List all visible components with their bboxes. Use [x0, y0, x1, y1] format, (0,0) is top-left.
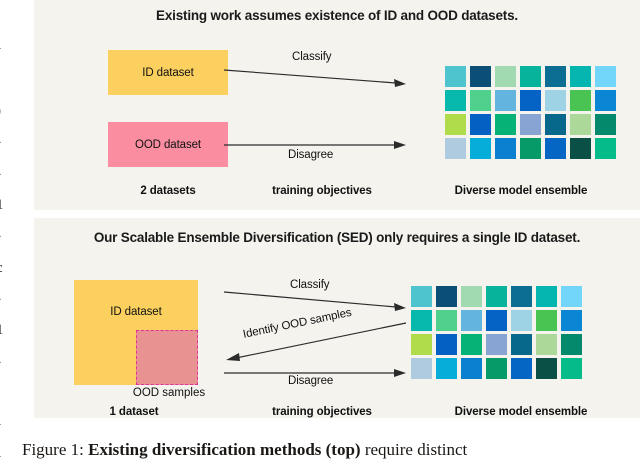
ensemble-cell-r3-c3 — [495, 114, 516, 135]
ensemble-cell-r1-c3 — [495, 66, 516, 87]
ensemble-cell-r2-c4 — [486, 310, 507, 331]
footer-ensemble-bottom: Diverse model ensemble — [414, 406, 628, 418]
ensemble-cell-r3-c4 — [520, 114, 541, 135]
ensemble-cell-r2-c5 — [545, 90, 566, 111]
footer-datasets-bottom: 1 dataset — [66, 406, 202, 418]
ensemble-cell-r3-c7 — [595, 114, 616, 135]
ensemble-cell-r4-c6 — [536, 358, 557, 379]
ensemble-cell-r4-c7 — [595, 138, 616, 159]
margin-fragment: ) — [0, 104, 1, 119]
margin-fragment: 1 — [0, 198, 4, 213]
margin-fragment: - — [0, 449, 1, 464]
panel-existing-work: Existing work assumes existence of ID an… — [34, 0, 640, 210]
ensemble-cell-r3-c6 — [536, 334, 557, 355]
ensemble-cell-r4-c3 — [461, 358, 482, 379]
panel-top-title: Existing work assumes existence of ID an… — [34, 8, 640, 23]
ensemble-cell-r4-c5 — [511, 358, 532, 379]
ensemble-cell-r4-c3 — [495, 138, 516, 159]
ensemble-cell-r1-c6 — [536, 286, 557, 307]
ensemble-cell-r1-c5 — [511, 286, 532, 307]
ensemble-cell-r3-c3 — [461, 334, 482, 355]
classify-arrow-label-top: Classify — [292, 51, 331, 63]
ensemble-cell-r3-c4 — [486, 334, 507, 355]
ensemble-cell-r1-c1 — [445, 66, 466, 87]
panel-bottom-title: Our Scalable Ensemble Diversification (S… — [34, 230, 640, 245]
footer-ensemble-top: Diverse model ensemble — [414, 185, 628, 197]
classify-arrow-label-bottom: Classify — [290, 279, 329, 291]
ensemble-cell-r1-c2 — [470, 66, 491, 87]
id-dataset-label-top: ID dataset — [142, 67, 193, 79]
ood-dataset-label-top: OOD dataset — [135, 139, 201, 151]
ensemble-cell-r2-c5 — [511, 310, 532, 331]
ensemble-cell-r1-c5 — [545, 66, 566, 87]
footer-objectives-top: training objectives — [242, 185, 402, 197]
ensemble-cell-r2-c7 — [561, 310, 582, 331]
ensemble-cell-r4-c1 — [411, 358, 432, 379]
ensemble-cell-r3-c2 — [436, 334, 457, 355]
ensemble-cell-r3-c7 — [561, 334, 582, 355]
ensemble-cell-r2-c3 — [495, 90, 516, 111]
ensemble-cell-r2-c1 — [411, 310, 432, 331]
margin-fragment: c — [0, 261, 3, 276]
ensemble-cell-r4-c4 — [486, 358, 507, 379]
ensemble-cell-r4-c2 — [436, 358, 457, 379]
ensemble-cell-r3-c1 — [411, 334, 432, 355]
disagree-arrow-label-top: Disagree — [288, 149, 333, 161]
ensemble-cell-r3-c2 — [470, 114, 491, 135]
ensemble-cell-r1-c7 — [561, 286, 582, 307]
ensemble-cell-r2-c6 — [570, 90, 591, 111]
margin-fragment: - — [0, 292, 1, 307]
ensemble-cell-r2-c7 — [595, 90, 616, 111]
ensemble-cell-r1-c2 — [436, 286, 457, 307]
classify-arrow-top — [224, 60, 409, 90]
id-dataset-label-bottom: ID dataset — [74, 306, 198, 318]
ensemble-cell-r1-c4 — [520, 66, 541, 87]
model-ensemble-grid-bottom — [411, 286, 582, 379]
ensemble-cell-r3-c6 — [570, 114, 591, 135]
ensemble-cell-r3-c5 — [545, 114, 566, 135]
ensemble-cell-r2-c3 — [461, 310, 482, 331]
footer-datasets-top: 2 datasets — [100, 185, 236, 197]
ensemble-cell-r4-c5 — [545, 138, 566, 159]
margin-text-bleed: ,-:)--1-c-1-:-- — [0, 0, 20, 470]
margin-fragment: - — [0, 135, 1, 150]
figure-caption: Figure 1: Existing diversification metho… — [22, 440, 640, 460]
ensemble-cell-r1-c7 — [595, 66, 616, 87]
ensemble-cell-r3-c5 — [511, 334, 532, 355]
ensemble-cell-r2-c2 — [470, 90, 491, 111]
margin-fragment: 1 — [0, 323, 4, 338]
margin-fragment: - — [0, 167, 1, 182]
ensemble-cell-r1-c4 — [486, 286, 507, 307]
id-dataset-box-top: ID dataset — [108, 50, 228, 95]
ensemble-cell-r1-c3 — [461, 286, 482, 307]
caption-bold: Existing diversification methods (top) — [88, 440, 360, 459]
margin-fragment: - — [0, 355, 1, 370]
ensemble-cell-r4-c7 — [561, 358, 582, 379]
model-ensemble-grid-top — [445, 66, 616, 159]
disagree-arrow-label-bottom: Disagree — [288, 375, 333, 387]
ensemble-cell-r2-c2 — [436, 310, 457, 331]
ensemble-cell-r4-c6 — [570, 138, 591, 159]
margin-fragment: - — [0, 417, 1, 432]
ensemble-cell-r2-c6 — [536, 310, 557, 331]
ensemble-cell-r4-c2 — [470, 138, 491, 159]
ood-samples-box — [136, 330, 198, 385]
caption-prefix: Figure 1: — [22, 440, 88, 459]
margin-fragment: - — [0, 229, 1, 244]
ensemble-cell-r4-c4 — [520, 138, 541, 159]
ensemble-cell-r4-c1 — [445, 138, 466, 159]
ood-samples-label: OOD samples — [104, 387, 234, 399]
caption-suffix: require distinct — [361, 440, 468, 459]
ensemble-cell-r2-c4 — [520, 90, 541, 111]
margin-fragment: - — [0, 41, 1, 56]
ensemble-cell-r2-c1 — [445, 90, 466, 111]
figure-page: ,-:)--1-c-1-:-- Existing work assumes ex… — [0, 0, 640, 470]
ensemble-cell-r1-c1 — [411, 286, 432, 307]
footer-objectives-bottom: training objectives — [242, 406, 402, 418]
ensemble-cell-r3-c1 — [445, 114, 466, 135]
ensemble-cell-r1-c6 — [570, 66, 591, 87]
ood-dataset-box-top: OOD dataset — [108, 122, 228, 167]
